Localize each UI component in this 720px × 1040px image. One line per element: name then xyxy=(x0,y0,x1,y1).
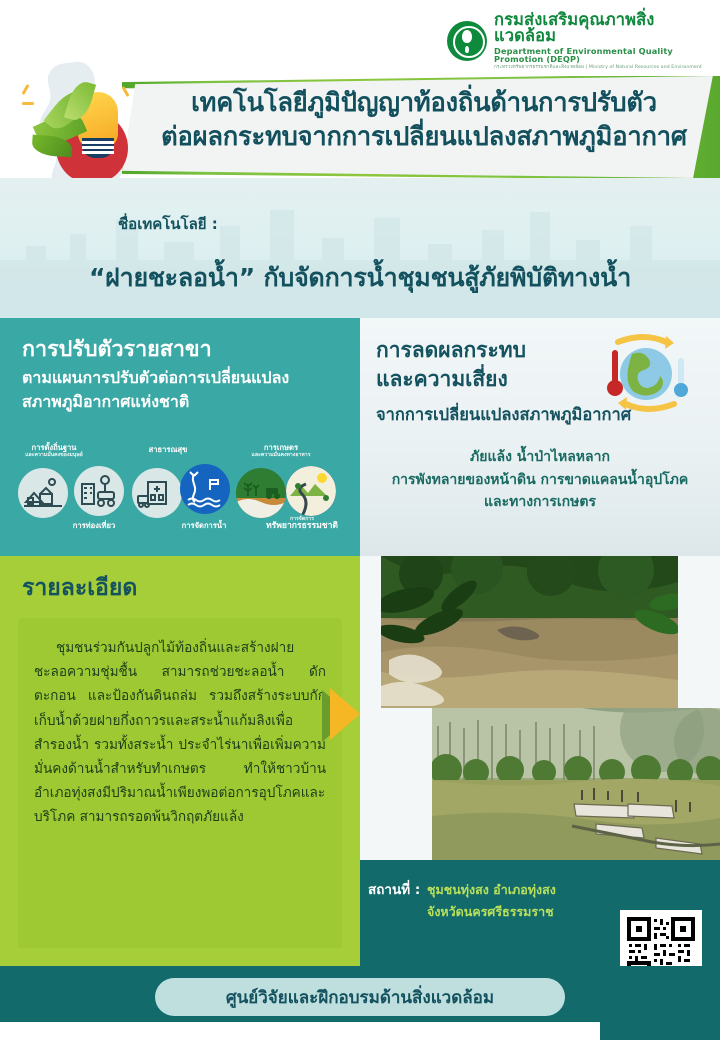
mitigation-panel-title: การลดผลกระทบ และความเสี่ยง xyxy=(376,336,591,393)
settlement-icon xyxy=(18,468,68,518)
poster-root: กรมส่งเสริมคุณภาพสิ่งแวดล้อม Department … xyxy=(0,0,720,1040)
footer-white-strip xyxy=(0,1022,600,1040)
sector-icon-row: การตั้งถิ่นฐาน และความมั่นคงของมนุษย์ กา… xyxy=(0,450,360,550)
poster-title-line2: ต่อผลกระทบจากการเปลี่ยนแปลงสภาพภูมิอากาศ xyxy=(144,120,704,154)
org-name-thai: กรมส่งเสริมคุณภาพสิ่งแวดล้อม xyxy=(494,12,715,45)
lightbulb-base xyxy=(82,138,114,158)
adaptation-sector-panel: การปรับตัวรายสาขา ตามแผนการปรับตัวต่อการ… xyxy=(0,318,360,556)
natural-resources-icon xyxy=(286,466,336,516)
tourism-icon xyxy=(74,466,124,516)
sector-label-natural-resources: การจัดการ ทรัพยากรธรรมชาติ xyxy=(244,516,360,531)
sector-label-agriculture: การเกษตร และความมั่นคงทางอาหาร xyxy=(226,444,336,458)
globe-thermometer-icon xyxy=(590,332,698,416)
location-line2: จังหวัดนครศรีธรรมราช xyxy=(427,901,627,923)
details-panel: รายละเอียด ชุมชนร่วมกันปลูกไม้ท้องถิ่นแล… xyxy=(0,556,360,966)
risk-line-1: ภัยแล้ง น้ำป่าไหลหลาก xyxy=(366,446,714,469)
poster-title-line1: เทคโนโลยีภูมิปัญญาท้องถิ่นด้านการปรับตัว xyxy=(144,86,704,120)
technology-label: ชื่อเทคโนโลยี : xyxy=(118,212,218,236)
details-title: รายละเอียด xyxy=(22,570,137,606)
org-ministry-line: กระทรวงทรัพยากรธรรมชาติและสิ่งแวดล้อม | … xyxy=(494,66,715,71)
technology-name: “ฝายชะลอน้ำ” กับจัดการน้ำชุมชนสู้ภัยพิบั… xyxy=(0,258,720,298)
footer-label: ศูนย์วิจัยและฝึกอบรมด้านสิ่งแวดล้อม xyxy=(226,984,494,1011)
public-health-icon xyxy=(132,468,182,518)
spark-1 xyxy=(22,102,34,105)
adaptation-subtitle-line1: ตามแผนการปรับตัวต่อการเปลี่ยนแปลง xyxy=(22,366,350,390)
thermometer-cold xyxy=(674,358,688,397)
pointer-arrow-icon xyxy=(330,688,360,740)
adaptation-panel-title: การปรับตัวรายสาขา xyxy=(22,332,342,366)
mitigation-title-line2: และความเสี่ยง xyxy=(376,365,591,394)
header-section: กรมส่งเสริมคุณภาพสิ่งแวดล้อม Department … xyxy=(0,0,720,200)
footer-pill: ศูนย์วิจัยและฝึกอบรมด้านสิ่งแวดล้อม xyxy=(155,978,565,1016)
risk-line-3: และทางการเกษตร xyxy=(366,491,714,514)
mitigation-risk-panel: การลดผลกระทบ และความเสี่ยง จากการเปลี่ยน… xyxy=(360,318,720,556)
agriculture-icon xyxy=(236,468,286,518)
flooded-stream-photo xyxy=(381,556,678,708)
sector-label-settlement: การตั้งถิ่นฐาน และความมั่นคงของมนุษย์ xyxy=(2,444,106,458)
sector-label-public-health: สาธารณสุข xyxy=(122,446,214,454)
deqp-logo: กรมส่งเสริมคุณภาพสิ่งแวดล้อม Department … xyxy=(447,18,715,64)
adaptation-panel-subtitle: ตามแผนการปรับตัวต่อการเปลี่ยนแปลง สภาพภู… xyxy=(22,366,350,415)
climate-risk-list: ภัยแล้ง น้ำป่าไหลหลาก การพังทลายของหน้าด… xyxy=(366,446,714,514)
deqp-seal-icon xyxy=(447,21,487,61)
mitigation-title-line1: การลดผลกระทบ xyxy=(376,336,591,365)
location-line1: ชุมชนทุ่งสง อำเภอทุ่งสง xyxy=(427,879,627,901)
sector-label-tourism: การท่องเที่ยว xyxy=(46,522,142,530)
flooded-reservoir-photo xyxy=(432,708,720,860)
water-management-icon xyxy=(180,464,230,514)
location-value: ชุมชนทุ่งสง อำเภอทุ่งสง จังหวัดนครศรีธรร… xyxy=(427,879,627,923)
sector-label-water-management: การจัดการน้ำ xyxy=(152,522,256,530)
risk-line-2: การพังทลายของหน้าดิน การขาดแคลนน้ำอุปโภค xyxy=(366,469,714,492)
adaptation-subtitle-line2: สภาพภูมิอากาศแห่งชาติ xyxy=(22,390,350,414)
location-label: สถานที่ : xyxy=(368,878,420,900)
details-body-text: ชุมชนร่วมกันปลูกไม้ท้องถิ่นและสร้างฝายชะ… xyxy=(34,636,326,830)
poster-title: เทคโนโลยีภูมิปัญญาท้องถิ่นด้านการปรับตัว… xyxy=(144,86,704,154)
org-name-english: Department of Environmental Quality Prom… xyxy=(494,47,715,63)
